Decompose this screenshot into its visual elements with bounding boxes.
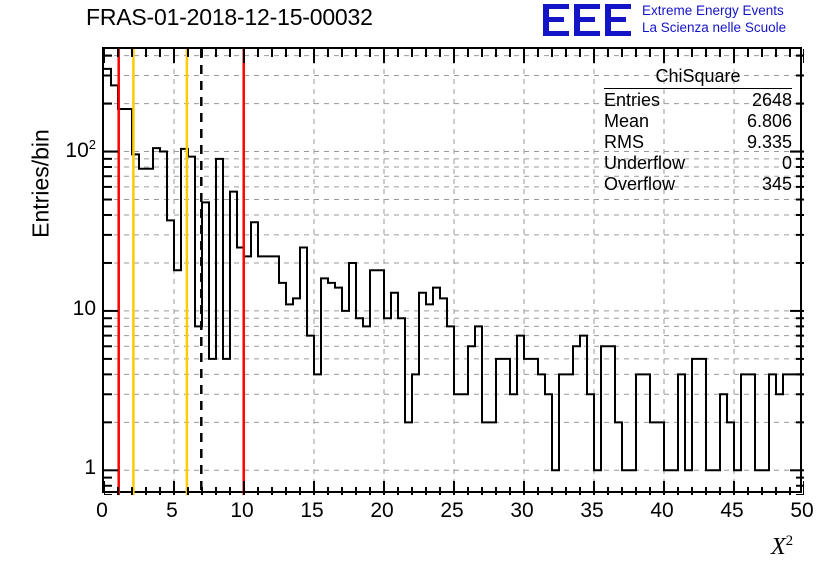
x-axis-title-exponent: 2	[786, 533, 794, 549]
stats-row: RMS9.335	[596, 132, 800, 153]
x-tick-label: 40	[650, 499, 673, 523]
x-tick-label: 15	[300, 499, 323, 523]
x-tick-label: 50	[790, 499, 813, 523]
x-tick-label: 5	[166, 499, 178, 523]
stats-row-key: Overflow	[604, 174, 675, 195]
stats-row: Underflow0	[596, 153, 800, 174]
chart-canvas: FRAS-01-2018-12-15-00032 Extreme Energy …	[0, 0, 836, 572]
stats-rows: Entries2648Mean6.806RMS9.335Underflow0Ov…	[596, 90, 800, 195]
eee-tagline-line2: La Scienza nelle Scuole	[642, 19, 786, 36]
stats-row: Overflow345	[596, 174, 800, 195]
x-tick-label: 45	[720, 499, 743, 523]
stats-row-value: 345	[762, 174, 792, 195]
x-tick-label: 25	[440, 499, 463, 523]
eee-mark-icon	[543, 4, 635, 36]
stats-row: Mean6.806	[596, 111, 800, 132]
y-tick-label: 10	[73, 297, 96, 321]
stats-row-key: Entries	[604, 90, 660, 111]
stats-row-key: Underflow	[604, 153, 685, 174]
x-tick-label: 0	[96, 499, 108, 523]
eee-tagline-line1: Extreme Energy Events	[642, 2, 786, 19]
x-tick-label: 35	[580, 499, 603, 523]
x-tick-label: 10	[230, 499, 253, 523]
stats-row-key: Mean	[604, 111, 649, 132]
stats-row-key: RMS	[604, 132, 644, 153]
stats-row-value: 2648	[752, 90, 792, 111]
statistics-box: ChiSquare Entries2648Mean6.806RMS9.335Un…	[596, 66, 800, 202]
x-axis-title-base: X	[771, 534, 786, 560]
x-tick-label: 20	[370, 499, 393, 523]
stats-row-value: 6.806	[747, 111, 792, 132]
eee-logo: Extreme Energy Events La Scienza nelle S…	[543, 2, 833, 38]
stats-row-value: 9.335	[747, 132, 792, 153]
x-tick-label: 30	[510, 499, 533, 523]
y-tick-labels: 110102	[20, 0, 96, 572]
page-title: FRAS-01-2018-12-15-00032	[86, 4, 373, 31]
y-tick-label: 102	[65, 137, 96, 163]
x-axis-title: X2	[771, 533, 793, 561]
stats-title: ChiSquare	[604, 66, 792, 89]
y-tick-label: 1	[84, 456, 96, 480]
stats-row: Entries2648	[596, 90, 800, 111]
stats-row-value: 0	[782, 153, 792, 174]
